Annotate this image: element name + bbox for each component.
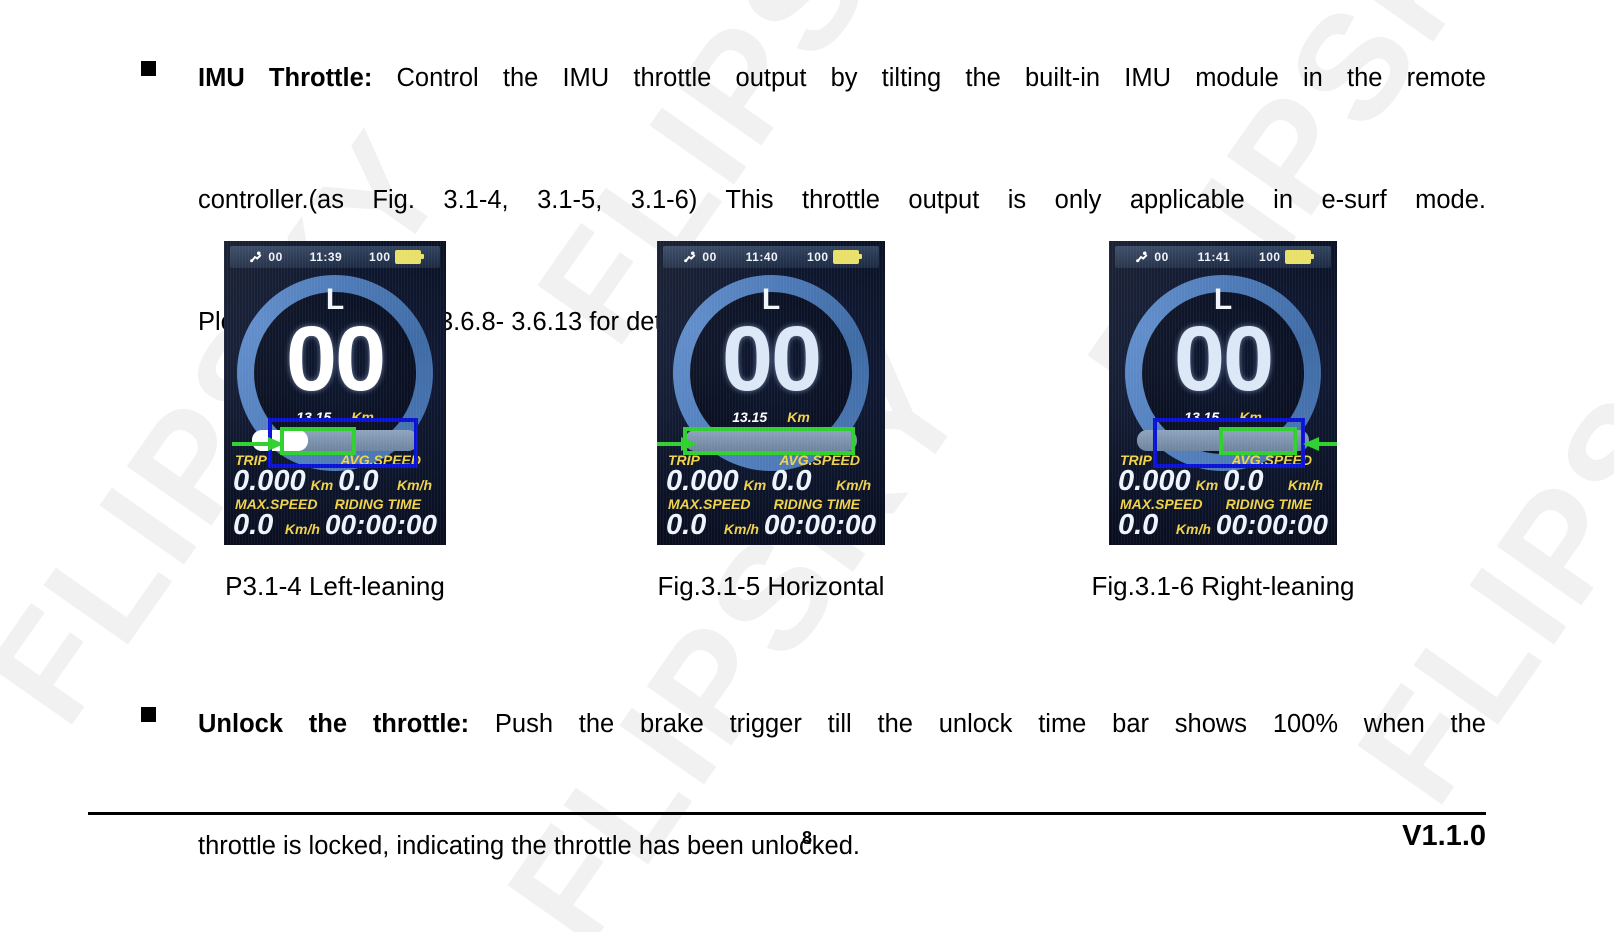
- status-time: 11:40: [746, 250, 779, 264]
- battery-status-group: 100: [807, 250, 859, 264]
- stat-values-row-1: 0.000 Km 0.0 Km/h: [662, 466, 880, 496]
- square-bullet-icon: [141, 707, 156, 722]
- rider-icon: [249, 251, 264, 263]
- annotation-box-green: [683, 427, 855, 455]
- status-bar: 00 11:40 100: [663, 246, 879, 268]
- odometer-value: 13.15: [732, 409, 767, 425]
- paragraph-line-text: Push the brake trigger till the unlock t…: [469, 710, 1486, 738]
- annotation-arrow-green: [1301, 434, 1337, 454]
- annotation-arrow-green: [657, 434, 701, 454]
- max-speed-value: 0.0: [233, 510, 273, 540]
- riding-time-value: 00:00:00: [325, 510, 437, 539]
- figure-3-1-6: 00 11:41 100 L 00 13.15 Km: [1109, 241, 1337, 545]
- bullet-paragraph-unlock-throttle: Unlock the throttle: Push the brake trig…: [141, 694, 1486, 877]
- paragraph-line: IMU Throttle: Control the IMU throttle o…: [198, 48, 1486, 170]
- rider-icon: [1135, 251, 1150, 263]
- status-bar: 00 11:39 100: [230, 246, 440, 268]
- battery-full-icon: [833, 250, 859, 264]
- paragraph-lead: Unlock the throttle:: [198, 710, 469, 738]
- battery-full-icon: [395, 250, 421, 264]
- stat-values-row-1: 0.000 Km 0.0 Km/h: [229, 466, 441, 496]
- battery-full-icon: [1285, 250, 1311, 264]
- trip-value: 0.000: [233, 466, 306, 496]
- paragraph-text: Unlock the throttle: Push the brake trig…: [198, 694, 1486, 877]
- avg-speed-unit: Km/h: [397, 477, 432, 493]
- paragraph-lead: IMU Throttle:: [198, 64, 372, 92]
- trip-unit: Km: [744, 477, 767, 493]
- status-time: 11:41: [1198, 250, 1231, 264]
- rider-count: 00: [1154, 250, 1168, 264]
- footer-divider: [88, 812, 1486, 815]
- battery-percent: 100: [369, 250, 391, 264]
- max-speed-unit: Km/h: [724, 521, 759, 537]
- max-speed-value: 0.0: [1118, 510, 1158, 540]
- max-speed-unit: Km/h: [285, 521, 320, 537]
- stat-values-row-2: 0.0 Km/h 00:00:00: [1114, 510, 1332, 540]
- stat-values-row-2: 0.0 Km/h 00:00:00: [662, 510, 880, 540]
- figure-3-1-4: 00 11:39 100 L 00 13.15 Km: [224, 241, 446, 545]
- odometer-unit: Km: [787, 409, 810, 425]
- speed-value: 00: [224, 313, 446, 405]
- page-number: 8: [0, 828, 1614, 849]
- max-speed-value: 0.0: [666, 510, 706, 540]
- document-version: V1.1.0: [1402, 820, 1486, 853]
- rider-status-group: 00: [1135, 250, 1168, 264]
- paragraph-line: Unlock the throttle: Push the brake trig…: [198, 694, 1486, 816]
- annotation-arrow-green: [232, 434, 288, 454]
- device-screenshot: 00 11:39 100 L 00 13.15 Km: [224, 241, 446, 545]
- page-content: IMU Throttle: Control the IMU throttle o…: [0, 0, 1614, 932]
- rider-count: 00: [702, 250, 716, 264]
- avg-speed-unit: Km/h: [1288, 477, 1323, 493]
- rider-icon: [683, 251, 698, 263]
- riding-time-value: 00:00:00: [764, 510, 876, 539]
- annotation-box-green: [1219, 427, 1297, 455]
- rider-status-group: 00: [249, 250, 282, 264]
- paragraph-line-text: Control the IMU throttle output by tilti…: [372, 64, 1486, 92]
- device-screenshot: 00 11:41 100 L 00 13.15 Km: [1109, 241, 1337, 545]
- battery-percent: 100: [1259, 250, 1281, 264]
- trip-value: 0.000: [1118, 466, 1191, 496]
- avg-speed-value: 0.0: [1223, 466, 1263, 496]
- trip-value: 0.000: [666, 466, 739, 496]
- figure-row: 00 11:39 100 L 00 13.15 Km: [141, 241, 1486, 621]
- device-screenshot: 00 11:40 100 L 00 13.15 Km: [657, 241, 885, 545]
- speed-value: 00: [1109, 313, 1337, 405]
- battery-status-group: 100: [369, 250, 421, 264]
- annotation-box-green: [280, 427, 356, 455]
- rider-count: 00: [268, 250, 282, 264]
- status-time: 11:39: [310, 250, 343, 264]
- speed-value: 00: [657, 313, 885, 405]
- trip-unit: Km: [1196, 477, 1219, 493]
- trip-unit: Km: [311, 477, 334, 493]
- figure-caption: Fig.3.1-5 Horizontal: [621, 571, 921, 602]
- battery-percent: 100: [807, 250, 829, 264]
- stat-values-row-2: 0.0 Km/h 00:00:00: [229, 510, 441, 540]
- ride-stats: TRIP AVG.SPEED 0.000 Km 0.0 Km/h MAX.SPE…: [662, 452, 880, 541]
- square-bullet-icon: [141, 61, 156, 76]
- riding-time-value: 00:00:00: [1216, 510, 1328, 539]
- figure-caption: P3.1-4 Left-leaning: [185, 571, 485, 602]
- rider-status-group: 00: [683, 250, 716, 264]
- avg-speed-value: 0.0: [338, 466, 378, 496]
- avg-speed-value: 0.0: [771, 466, 811, 496]
- battery-status-group: 100: [1259, 250, 1311, 264]
- avg-speed-unit: Km/h: [836, 477, 871, 493]
- figure-3-1-5: 00 11:40 100 L 00 13.15 Km: [657, 241, 885, 545]
- status-bar: 00 11:41 100: [1115, 246, 1331, 268]
- max-speed-unit: Km/h: [1176, 521, 1211, 537]
- figure-caption: Fig.3.1-6 Right-leaning: [1073, 571, 1373, 602]
- odometer-row: 13.15 Km: [657, 409, 885, 425]
- stat-values-row-1: 0.000 Km 0.0 Km/h: [1114, 466, 1332, 496]
